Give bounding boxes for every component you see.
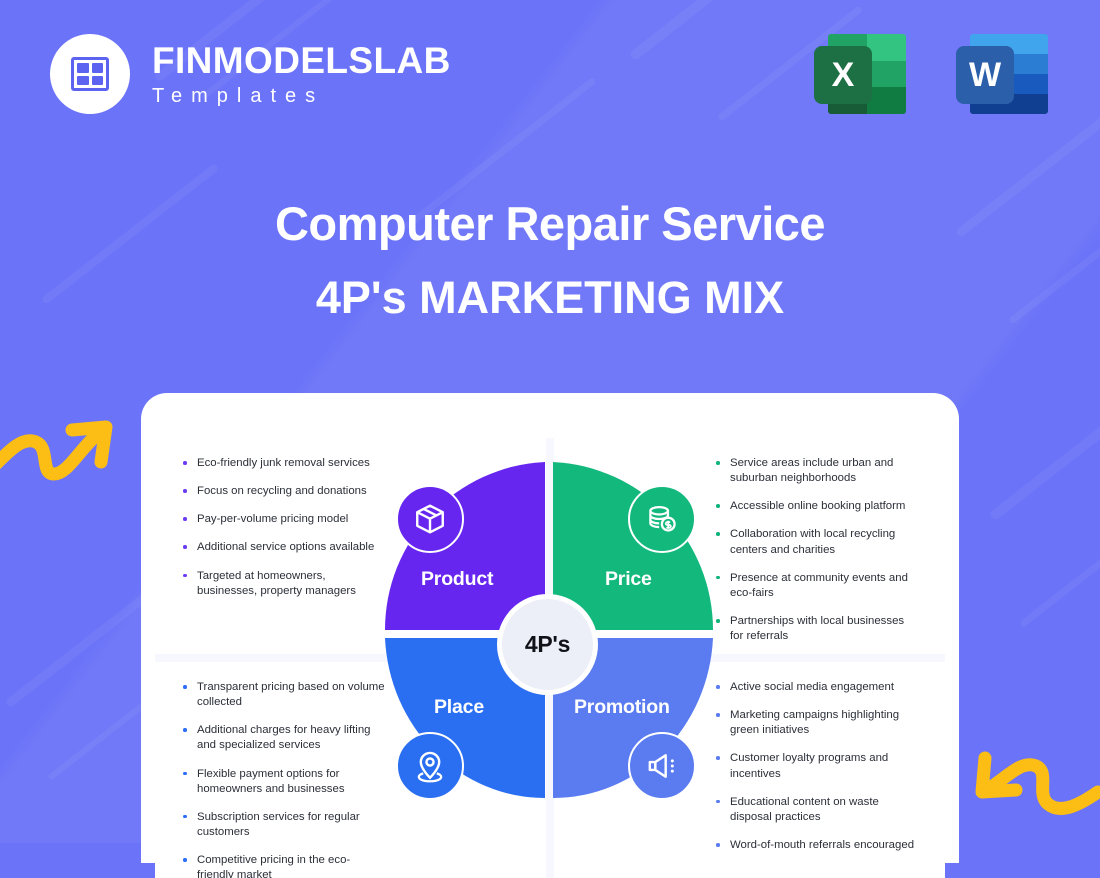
list-item: Customer loyalty programs and incentives <box>714 751 919 781</box>
brand-tagline: Templates <box>152 86 451 106</box>
list-item: Presence at community events and eco-fai… <box>714 571 919 601</box>
list-item: Targeted at homeowners, businesses, prop… <box>181 569 386 599</box>
quadrant-price-text: Service areas include urban and suburban… <box>554 438 945 654</box>
quadrant-label-promotion: Promotion <box>574 696 670 719</box>
format-icons: X W <box>814 28 1048 120</box>
grid-icon <box>71 57 109 91</box>
price-bullet-list: Service areas include urban and suburban… <box>714 456 919 636</box>
squiggle-arrow-up-right-icon <box>0 404 128 494</box>
excel-icon-letter: X <box>814 46 872 104</box>
list-item: Eco-friendly junk removal services <box>181 456 386 471</box>
quadrant-place-text: Transparent pricing based on volume coll… <box>155 662 546 878</box>
list-item: Focus on recycling and donations <box>181 484 386 499</box>
list-item: Active social media engagement <box>714 680 919 695</box>
list-item: Additional charges for heavy lifting and… <box>181 723 386 753</box>
location-icon <box>396 732 464 800</box>
word-icon-letter: W <box>956 46 1014 104</box>
title-line-2: 4P's MARKETING MIX <box>0 271 1100 324</box>
list-item: Accessible online booking platform <box>714 499 919 514</box>
list-item: Word-of-mouth referrals encouraged <box>714 838 919 853</box>
box-icon <box>396 485 464 553</box>
page-header: FINMODELSLAB Templates X W <box>0 0 1100 150</box>
list-item: Educational content on waste disposal pr… <box>714 795 919 825</box>
quadrant-label-product: Product <box>421 568 493 591</box>
list-item: Subscription services for regular custom… <box>181 810 386 840</box>
excel-icon[interactable]: X <box>814 28 906 120</box>
megaphone-icon <box>628 732 696 800</box>
page-title: Computer Repair Service 4P's MARKETING M… <box>0 196 1100 325</box>
brand-name: FINMODELSLAB <box>152 42 451 79</box>
brand-logo[interactable]: FINMODELSLAB Templates <box>50 34 451 114</box>
logo-circle <box>50 34 130 114</box>
list-item: Collaboration with local recycling cente… <box>714 527 919 557</box>
list-item: Marketing campaigns highlighting green i… <box>714 708 919 738</box>
donut-center-hub: 4P's <box>497 594 598 695</box>
list-item: Pay-per-volume pricing model <box>181 512 386 527</box>
center-label: 4P's <box>525 631 570 658</box>
list-item: Flexible payment options for homeowners … <box>181 767 386 797</box>
coins-icon <box>628 485 696 553</box>
squiggle-arrow-down-left-icon <box>960 740 1100 830</box>
quadrant-product-text: Eco-friendly junk removal services Focus… <box>155 438 546 654</box>
list-item: Transparent pricing based on volume coll… <box>181 680 386 710</box>
list-item: Competitive pricing in the eco-friendly … <box>181 853 386 878</box>
list-item: Additional service options available <box>181 540 386 555</box>
list-item: Partnerships with local businesses for r… <box>714 614 919 644</box>
quadrant-promotion-text: Active social media engagement Marketing… <box>554 662 945 878</box>
quadrant-label-place: Place <box>434 696 484 719</box>
word-icon[interactable]: W <box>956 28 1048 120</box>
promotion-bullet-list: Active social media engagement Marketing… <box>714 680 919 860</box>
quadrant-label-price: Price <box>605 568 652 591</box>
title-line-1: Computer Repair Service <box>0 196 1100 251</box>
list-item: Service areas include urban and suburban… <box>714 456 919 486</box>
